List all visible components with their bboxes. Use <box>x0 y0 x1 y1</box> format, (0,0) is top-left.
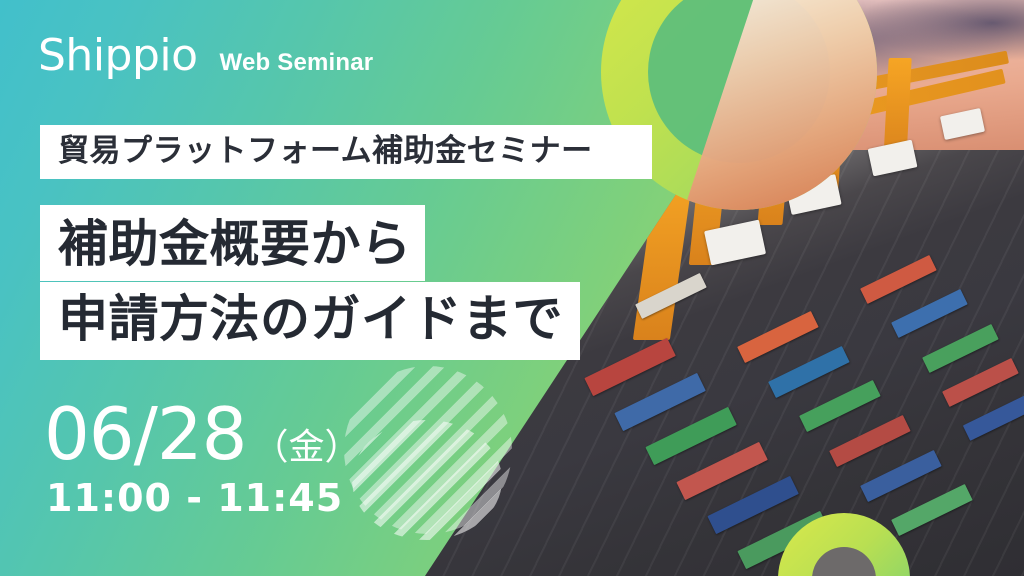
seminar-title-band-1: 補助金概要から <box>40 205 425 281</box>
seminar-day-of-week: （金） <box>253 430 361 466</box>
seminar-title-line-2: 申請方法のガイドまで <box>58 292 566 346</box>
webinar-banner: Shippio Web Seminar 貿易プラットフォーム補助金セミナー 補助… <box>0 0 1024 576</box>
brand-header: Shippio Web Seminar <box>38 34 373 78</box>
web-seminar-label: Web Seminar <box>220 49 374 77</box>
seminar-subtitle-band: 貿易プラットフォーム補助金セミナー <box>40 125 652 179</box>
shippio-logo: Shippio <box>38 34 198 78</box>
seminar-title-band-2: 申請方法のガイドまで <box>40 282 580 360</box>
seminar-date: 06/28 （金） <box>44 398 361 470</box>
seminar-title-line-1: 補助金概要から <box>58 217 411 271</box>
seminar-subtitle: 貿易プラットフォーム補助金セミナー <box>58 134 636 168</box>
striped-circle-decoration-secondary <box>352 420 502 540</box>
seminar-time: 11:00 - 11:45 <box>46 479 343 517</box>
seminar-date-value: 06/28 <box>44 398 247 470</box>
